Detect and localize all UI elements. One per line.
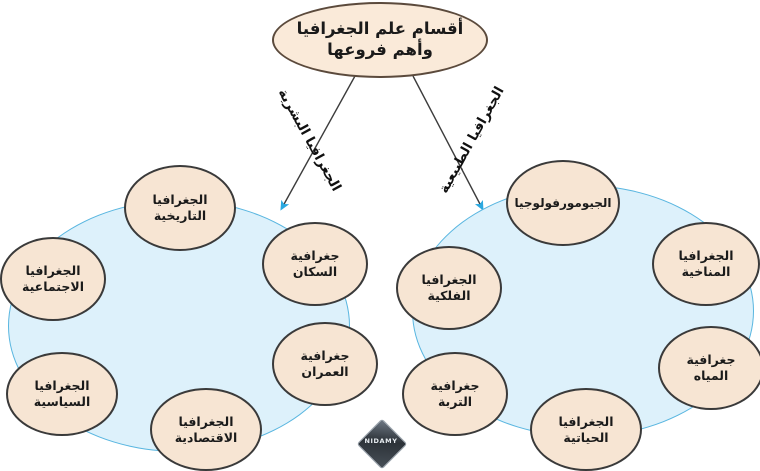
branch-label-line1: جغرافية	[301, 348, 350, 364]
branch-label-line2: السياسية	[34, 394, 90, 410]
diagram-title-node: أقسام علم الجغرافيا وأهم فروعها	[272, 2, 488, 78]
branch-soil-geography[interactable]: جغرافية التربة	[402, 352, 508, 436]
branch-label-line2: التربة	[438, 394, 472, 410]
branch-label-line1: الجغرافيا	[152, 192, 207, 208]
branch-label-line2: الحياتية	[563, 430, 608, 446]
branch-label-line1: جغرافية	[687, 352, 736, 368]
branch-label-line2: التاريخية	[154, 208, 206, 224]
branch-historical-geography[interactable]: الجغرافيا التاريخية	[124, 165, 236, 251]
branch-label-line1: الجغرافيا	[421, 272, 476, 288]
watermark-logo: NIDAMY	[358, 420, 404, 466]
branch-label-line1: الجيومورفولوجيا	[515, 196, 612, 211]
diagram-canvas: أقسام علم الجغرافيا وأهم فروعها الجغرافي…	[0, 0, 760, 471]
branch-label-line2: السكان	[293, 264, 337, 280]
page-title-line2: وأهم فروعها	[327, 40, 433, 61]
page-title-line1: أقسام علم الجغرافيا	[297, 19, 464, 40]
branch-label-line1: الجغرافيا	[558, 414, 613, 430]
branch-label-line2: المياه	[694, 368, 729, 384]
branch-label-line2: العمران	[301, 364, 348, 380]
branch-population-geography[interactable]: جغرافية السكان	[262, 222, 368, 306]
branch-label-line1: الجغرافيا	[678, 248, 733, 264]
branch-label-line2: الفلكية	[427, 288, 470, 304]
branch-urban-geography[interactable]: جغرافية العمران	[272, 322, 378, 406]
branch-social-geography[interactable]: الجغرافيا الاجتماعية	[0, 237, 106, 321]
watermark-text: NIDAMY	[358, 437, 404, 445]
branch-label-line1: الجغرافيا	[34, 378, 89, 394]
branch-astronomical-geography[interactable]: الجغرافيا الفلكية	[396, 246, 502, 330]
branch-water-geography[interactable]: جغرافية المياه	[658, 326, 760, 410]
branch-label-line1: الجغرافيا	[25, 263, 80, 279]
branch-label-line1: جغرافية	[431, 378, 480, 394]
branch-climatic-geography[interactable]: الجغرافيا المناخية	[652, 222, 760, 306]
branch-label-line2: الاقتصادية	[175, 430, 238, 446]
branch-geomorphology[interactable]: الجيومورفولوجيا	[506, 160, 620, 246]
human-geography-arrow-label: الجغرافيا البشرية	[275, 86, 345, 194]
branch-biogeography[interactable]: الجغرافيا الحياتية	[530, 388, 642, 471]
branch-political-geography[interactable]: الجغرافيا السياسية	[6, 352, 118, 436]
branch-label-line1: الجغرافيا	[178, 414, 233, 430]
physical-geography-arrow-label: الجغرافيا الطبيعية	[436, 84, 508, 196]
branch-label-line2: الاجتماعية	[22, 279, 84, 295]
branch-economic-geography[interactable]: الجغرافيا الاقتصادية	[150, 388, 262, 471]
branch-label-line1: جغرافية	[291, 248, 340, 264]
branch-label-line2: المناخية	[682, 264, 731, 280]
